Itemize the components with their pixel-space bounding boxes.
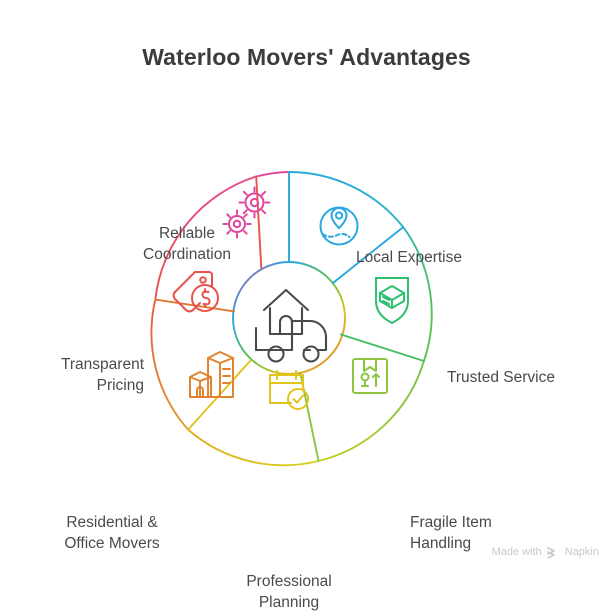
arc-fragile-item-handling[interactable]	[319, 361, 424, 461]
napkin-watermark: Made with Napkin	[492, 546, 599, 558]
watermark-text: Made with	[492, 546, 542, 558]
divider-trusted-fragile	[341, 335, 424, 362]
segment-label-transparent-pricing: Transparent Pricing	[0, 354, 144, 397]
segment-label-professional-planning: Professional Planning	[196, 571, 382, 614]
fragile-package-icon[interactable]	[353, 359, 387, 393]
wheel-svg	[0, 96, 613, 526]
calendar-check-icon[interactable]	[270, 371, 308, 409]
moving-truck-house-icon	[256, 290, 326, 362]
house-office-building-icon[interactable]	[190, 352, 233, 397]
arc-reliable-coordination[interactable]	[256, 172, 289, 177]
advantages-wheel-diagram: Reliable Coordination Local Expertise Tr…	[0, 96, 613, 526]
page-title: Waterloo Movers' Advantages	[0, 44, 613, 71]
segment-label-trusted-service: Trusted Service	[447, 367, 613, 388]
napkin-chevrons-icon	[547, 547, 560, 558]
shield-box-icon[interactable]	[376, 278, 408, 323]
segment-label-local-expertise: Local Expertise	[356, 247, 546, 268]
globe-location-pin-icon[interactable]	[321, 208, 358, 245]
arc-professional-planning[interactable]	[188, 430, 318, 466]
arc-residential-office-movers[interactable]	[151, 300, 188, 430]
watermark-brand: Napkin	[565, 546, 599, 558]
segment-label-residential-office-movers: Residential & Office Movers	[18, 512, 206, 555]
segment-label-reliable-coordination: Reliable Coordination	[92, 223, 282, 266]
